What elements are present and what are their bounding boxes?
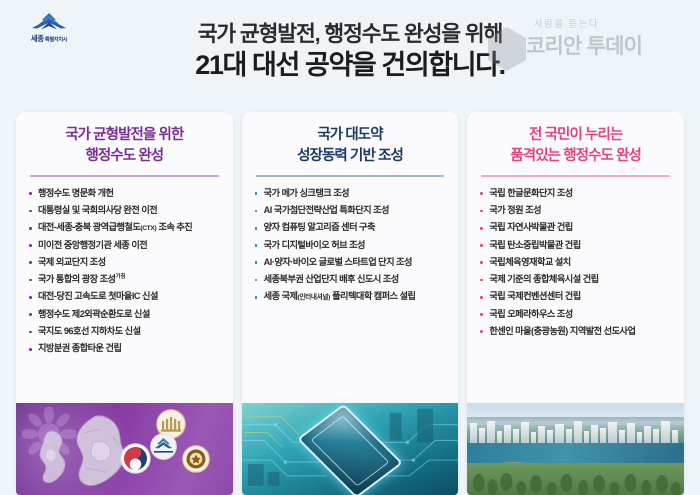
panel-balanced-development: 국가 균형발전을 위한 행정수도 완성 행정수도 명문화 개헌 대통령실 및 국… (16, 112, 233, 495)
list-item-note: (인터내셔널) (297, 294, 330, 301)
panel-1-list: 행정수도 명문화 개헌 대통령실 및 국회의사당 완전 이전 대전-세종-충북 … (16, 177, 233, 367)
list-item-text: 국제 기준의 종합체육시설 건립 (489, 274, 598, 284)
panel-growth-engine: 국가 대도약 성장동력 기반 조성 국가 메가 싱크탱크 조성 AI 국가첨단전… (242, 112, 459, 495)
list-item-text: AI 국가첨단전략산업 특화단지 조성 (264, 205, 389, 215)
list-item-text: 양자 컴퓨팅 알고리즘 센터 구축 (264, 222, 375, 232)
list-item: 지방분권 종합타운 건립 (29, 343, 222, 355)
panel-2-title-line-2: 성장동력 기반 조성 (250, 146, 451, 167)
sejong-city-emblem-icon (150, 433, 177, 460)
list-item: 국립 한글문화단지 조성 (480, 188, 673, 200)
infographic-poster: 세종 특별자치시 국가 균형발전, 행정수도 완성을 위해 21대 대선 공약을… (0, 0, 700, 495)
panel-1-header: 국가 균형발전을 위한 행정수도 완성 (16, 112, 233, 166)
list-item: 국지도 96호선 지하차도 신설 (29, 326, 222, 338)
panel-1-title-line-1: 국가 균형발전을 위한 (24, 125, 225, 146)
pledge-panels: 국가 균형발전을 위한 행정수도 완성 행정수도 명문화 개헌 대통령실 및 국… (0, 112, 700, 495)
list-item: 대전-세종-충북 광역급행철도(CTX) 조속 추진 (29, 222, 222, 234)
list-item-text: 국립체육영재학교 설치 (489, 257, 570, 267)
list-item-text: 행정수도 명문화 개헌 (38, 188, 113, 198)
korea-government-taegeuk-emblem-icon (120, 443, 151, 474)
list-item-text: 세종 국제 (264, 291, 298, 301)
list-item-text: AI·양자·바이오 글로벌 스타트업 단지 조성 (264, 257, 412, 267)
panel-2-artwork (242, 403, 459, 495)
tree-cluster-icon (467, 465, 684, 495)
list-item: 국제 기준의 종합체육시설 건립 (480, 274, 673, 286)
chungcheong-region-map-icon (72, 413, 128, 491)
list-item: 국립체육영재학교 설치 (480, 257, 673, 269)
list-item-text: 국립 국제컨벤션센터 건립 (489, 291, 580, 301)
title-line-1: 국가 균형발전, 행정수도 완성을 위해 (0, 22, 700, 47)
list-item-text: 국가 메가 싱크탱크 조성 (264, 188, 349, 198)
list-item-text: 국가 디지털바이오 허브 조성 (264, 240, 365, 250)
city-skyline (467, 419, 684, 445)
list-item-text: 국가 통합의 광장 조성 (38, 274, 116, 284)
list-item-text: 미이전 중앙행정기관 세종 이전 (38, 240, 147, 250)
list-item: 한센인 마을(충광농원) 지역발전 선도사업 (480, 326, 673, 338)
list-item-text: 국립 오페라하우스 조성 (489, 309, 572, 319)
list-item-text: 지방분권 종합타운 건립 (38, 343, 121, 353)
panel-quality-capital: 전 국민이 누리는 품격있는 행정수도 완성 국립 한글문화단지 조성 국가 정… (467, 112, 684, 495)
list-item-text: 행정수도 제2외곽순환도로 신설 (38, 309, 150, 319)
list-item: AI·양자·바이오 글로벌 스타트업 단지 조성 (255, 257, 448, 269)
list-item: 국가 디지털바이오 허브 조성 (255, 240, 448, 252)
panel-1-title-line-2: 행정수도 완성 (24, 146, 225, 167)
government-gold-seal-icon (182, 445, 210, 473)
title-line-2: 21대 대선 공약을 건의합니다. (0, 49, 700, 81)
list-item-text: 대전-세종-충북 광역급행철도 (38, 222, 140, 232)
list-item-text: 국립 자연사박물관 건립 (489, 222, 572, 232)
list-item: 대전-당진 고속도로 첫마을IC 신설 (29, 291, 222, 303)
list-item: 대통령실 및 국회의사당 완전 이전 (29, 205, 222, 217)
list-item-text: 대통령실 및 국회의사당 완전 이전 (38, 205, 157, 215)
list-item: 행정수도 제2외곽순환도로 신설 (29, 309, 222, 321)
list-item: 국립 자연사박물관 건립 (480, 222, 673, 234)
panel-1-artwork (16, 403, 233, 495)
list-item-text: 세종북부권 산업단지 배후 신도시 조성 (264, 274, 399, 284)
panel-2-list: 국가 메가 싱크탱크 조성 AI 국가첨단전략산업 특화단지 조성 양자 컴퓨팅… (242, 177, 459, 315)
list-item-tail: 폴리텍대학 캠퍼스 설립 (330, 291, 415, 301)
list-item-text: 국립 한글문화단지 조성 (489, 188, 572, 198)
panel-3-title-line-2: 품격있는 행정수도 완성 (475, 146, 676, 167)
list-item-text: 국지도 96호선 지하차도 신설 (38, 326, 141, 336)
list-item: 세종 국제(인터내셔널) 폴리텍대학 캠퍼스 설립 (255, 291, 448, 303)
panel-3-list: 국립 한글문화단지 조성 국가 정원 조성 국립 자연사박물관 건립 국립 탄소… (467, 177, 684, 349)
page-title: 국가 균형발전, 행정수도 완성을 위해 21대 대선 공약을 건의합니다. (0, 22, 700, 82)
list-item: 국립 국제컨벤션센터 건립 (480, 291, 673, 303)
list-item-text: 국립 탄소중립박물관 건립 (489, 240, 580, 250)
list-item: 국가 정원 조성 (480, 205, 673, 217)
list-item-text: 한센인 마을(충광농원) 지역발전 선도사업 (489, 326, 635, 336)
list-item-text: 대전-당진 고속도로 첫마을IC 신설 (38, 291, 158, 301)
list-item: 세종북부권 산업단지 배후 신도시 조성 (255, 274, 448, 286)
list-item-text: 국제 외교단지 조성 (38, 257, 106, 267)
panel-3-artwork (467, 403, 684, 495)
list-item-text: 국가 정원 조성 (489, 205, 541, 215)
panel-2-title-line-1: 국가 대도약 (250, 125, 451, 146)
korea-peninsula-map-icon (34, 429, 74, 485)
list-item: 미이전 중앙행정기관 세종 이전 (29, 240, 222, 252)
list-item: 국가 메가 싱크탱크 조성 (255, 188, 448, 200)
list-item: 행정수도 명문화 개헌 (29, 188, 222, 200)
list-item: 양자 컴퓨팅 알고리즘 센터 구축 (255, 222, 448, 234)
list-item-note: (CTX) (140, 225, 156, 232)
list-item: 국제 외교단지 조성 (29, 257, 222, 269)
list-item: 국립 탄소중립박물관 건립 (480, 240, 673, 252)
panel-3-header: 전 국민이 누리는 품격있는 행정수도 완성 (467, 112, 684, 166)
panel-2-header: 국가 대도약 성장동력 기반 조성 (242, 112, 459, 166)
list-item-superscript: 가칭 (116, 274, 126, 280)
poster-header: 세종 특별자치시 국가 균형발전, 행정수도 완성을 위해 21대 대선 공약을… (0, 0, 700, 112)
list-item: 국립 오페라하우스 조성 (480, 309, 673, 321)
list-item-tail: 조속 추진 (156, 222, 192, 232)
list-item: 국가 통합의 광장 조성가칭 (29, 274, 222, 286)
list-item: AI 국가첨단전략산업 특화단지 조성 (255, 205, 448, 217)
panel-3-title-line-1: 전 국민이 누리는 (475, 125, 676, 146)
